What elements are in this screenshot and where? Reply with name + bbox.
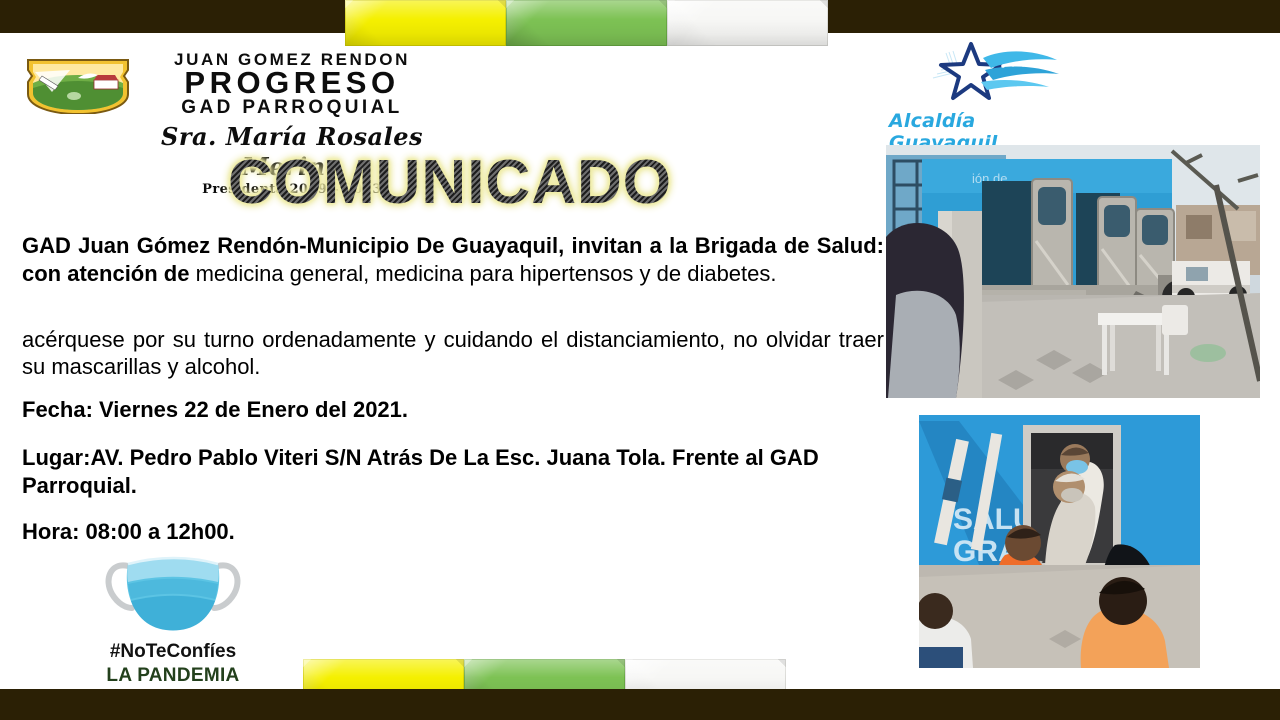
org-line-3: GAD PARROQUIAL [142,97,442,118]
paragraph-invitation-regular: medicina general, medicina para hiperten… [196,261,777,286]
paragraph-instructions: acérquese por su turno ordenadamente y c… [22,326,884,380]
top-white-block [667,0,828,46]
photo-mobile-health-truck: ión de U AT [886,145,1260,398]
gad-parroquial-coat-of-arms [22,52,134,114]
campaign-block: #NoTeConfíes LA PANDEMIA SIGUE [78,546,268,710]
org-line-2: PROGRESO [142,68,442,98]
flyer-page: JUAN GOMEZ RENDON PROGRESO GAD PARROQUIA… [0,0,1280,720]
top-block-row [345,0,828,46]
campaign-hashtag: #NoTeConfíes [78,640,268,664]
bottom-dark-band [0,689,1280,720]
top-yellow-block [345,0,506,46]
photo-people-boarding-truck: Dirección de Salud SALUD GRATIS [919,415,1200,668]
paragraph-invitation: GAD Juan Gómez Rendón-Municipio De Guaya… [22,232,884,288]
alcaldia-block: Alcaldía Guayaquil [883,40,1063,154]
top-green-block [506,0,667,46]
alcaldia-guayaquil-star-logo [925,40,1065,108]
time-line: Hora: 08:00 a 12h00. [22,518,884,546]
location-line: Lugar:AV. Pedro Pablo Viteri S/N Atrás D… [22,444,884,500]
date-line: Fecha: Viernes 22 de Enero del 2021. [22,396,884,424]
page-title: COMUNICADO [140,150,760,216]
surgical-mask-icon [98,546,248,638]
